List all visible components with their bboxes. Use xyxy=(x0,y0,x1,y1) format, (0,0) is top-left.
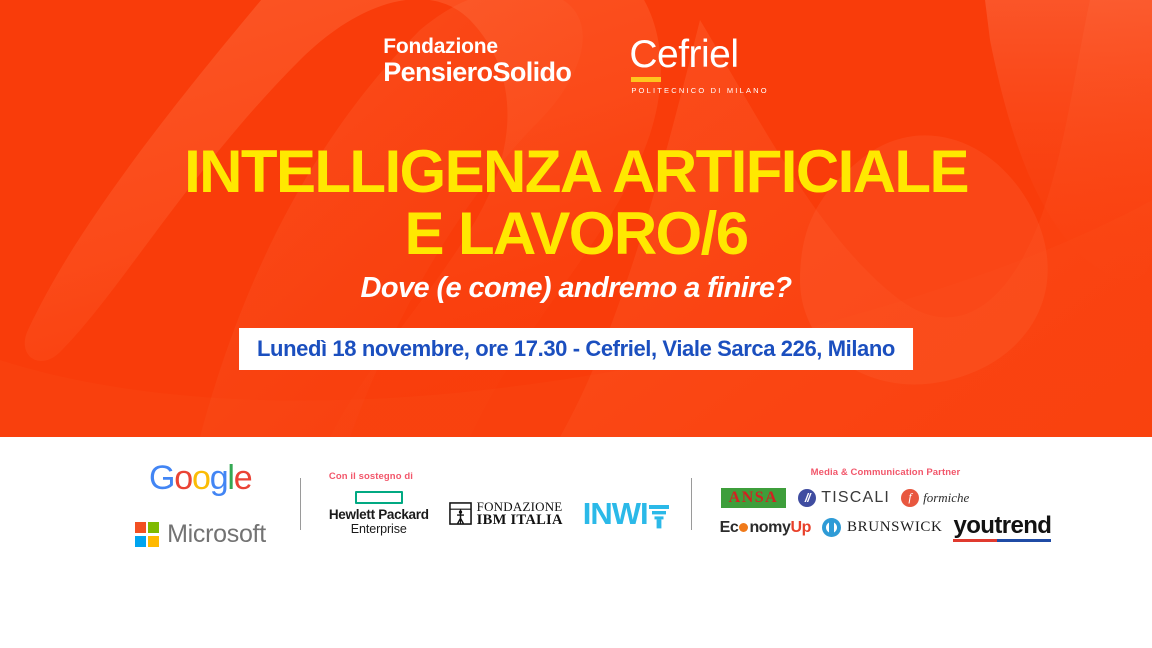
hpe-rectangle-icon xyxy=(355,491,403,504)
sponsor-group-media: Media & Communication Partner ANSA // TI… xyxy=(692,467,1052,542)
economyup-part1: Ec xyxy=(720,519,739,537)
economyup-part3: Up xyxy=(791,519,812,537)
logo-inwit: INWI xyxy=(583,496,669,532)
inwit-wordmark: INWI xyxy=(583,496,648,532)
tiscali-wordmark: TISCALI xyxy=(821,489,890,507)
hpe-line1: Hewlett Packard xyxy=(329,508,429,522)
economyup-dot-icon xyxy=(739,523,748,532)
logo-youtrend: youtrend xyxy=(953,514,1051,542)
poster-subtitle: Dove (e come) andremo a finire? xyxy=(0,272,1152,305)
cefriel-accent-bar xyxy=(631,77,661,82)
supporters-label: Con il sostegno di xyxy=(329,471,413,482)
media-partners-label: Media & Communication Partner xyxy=(811,467,961,478)
google-letter-o2: o xyxy=(192,459,210,497)
youtrend-wordmark: youtrend xyxy=(953,514,1051,538)
event-poster: Fondazione PensieroSolido Cefriel POLITE… xyxy=(0,0,1152,648)
poster-title: INTELLIGENZA ARTIFICIALE E LAVORO/6 xyxy=(0,143,1152,263)
cefriel-wordmark: Cefriel xyxy=(629,36,738,73)
title-line-1: INTELLIGENZA ARTIFICIALE xyxy=(184,138,968,205)
logo-ansa: ANSA xyxy=(720,487,788,509)
sponsor-group-supporters: Con il sostegno di Hewlett Packard Enter… xyxy=(301,471,691,537)
ibm-line2: IBM ITALIA xyxy=(477,513,563,528)
logo-google: Google xyxy=(149,459,251,498)
title-line-2: E LAVORO/6 xyxy=(0,205,1152,263)
google-letter-e: e xyxy=(234,459,252,497)
brunswick-circle-icon xyxy=(822,518,841,537)
logo-tiscali: // TISCALI xyxy=(798,489,890,507)
microsoft-squares-icon xyxy=(135,522,160,547)
date-venue-text: Lunedì 18 novembre, ore 17.30 - Cefriel,… xyxy=(257,336,895,361)
google-letter-o1: o xyxy=(174,459,192,497)
economyup-part2: nomy xyxy=(749,519,790,537)
ibm-figure-icon xyxy=(449,502,472,525)
tiscali-slashes-icon: // xyxy=(798,489,816,507)
date-venue-banner: Lunedì 18 novembre, ore 17.30 - Cefriel,… xyxy=(239,328,913,370)
google-letter-g1: G xyxy=(149,459,174,497)
brunswick-wordmark: BRUNSWICK xyxy=(847,519,942,536)
formiche-wordmark: formiche xyxy=(923,490,969,506)
logo-economyup: EcnomyUp xyxy=(720,519,811,537)
fondazione-line1: Fondazione xyxy=(383,36,571,57)
formiche-circle-icon: f xyxy=(901,489,919,507)
microsoft-wordmark: Microsoft xyxy=(167,520,266,549)
logo-fondazione-pensierosolido: Fondazione PensieroSolido xyxy=(383,36,571,86)
media-partners-row-2: EcnomyUp BRUNSWICK youtrend xyxy=(720,514,1052,542)
fondazione-line2: PensieroSolido xyxy=(383,59,571,86)
hpe-line2: Enterprise xyxy=(351,522,407,536)
logo-microsoft: Microsoft xyxy=(135,520,266,549)
youtrend-underline xyxy=(953,539,1051,542)
logo-hewlett-packard-enterprise: Hewlett Packard Enterprise xyxy=(329,491,429,537)
logo-fondazione-ibm-italia: FONDAZIONE IBM ITALIA xyxy=(449,500,563,528)
sponsor-group-main: Google Microsoft xyxy=(101,459,300,549)
logo-brunswick: BRUNSWICK xyxy=(822,518,942,537)
logo-formiche: f formiche xyxy=(901,489,969,507)
sponsors-footer: Google Microsoft Con il sostegno di Hewl… xyxy=(0,437,1152,648)
inwit-tower-icon xyxy=(649,501,669,527)
media-partners-row-1: ANSA // TISCALI f formiche xyxy=(720,487,1052,509)
google-letter-g2: g xyxy=(210,459,228,497)
logo-cefriel: Cefriel POLITECNICO DI MILANO xyxy=(629,36,768,95)
organizer-logos: Fondazione PensieroSolido Cefriel POLITE… xyxy=(0,36,1152,95)
cefriel-tagline: POLITECNICO DI MILANO xyxy=(631,86,768,95)
hero-banner: Fondazione PensieroSolido Cefriel POLITE… xyxy=(0,0,1152,437)
